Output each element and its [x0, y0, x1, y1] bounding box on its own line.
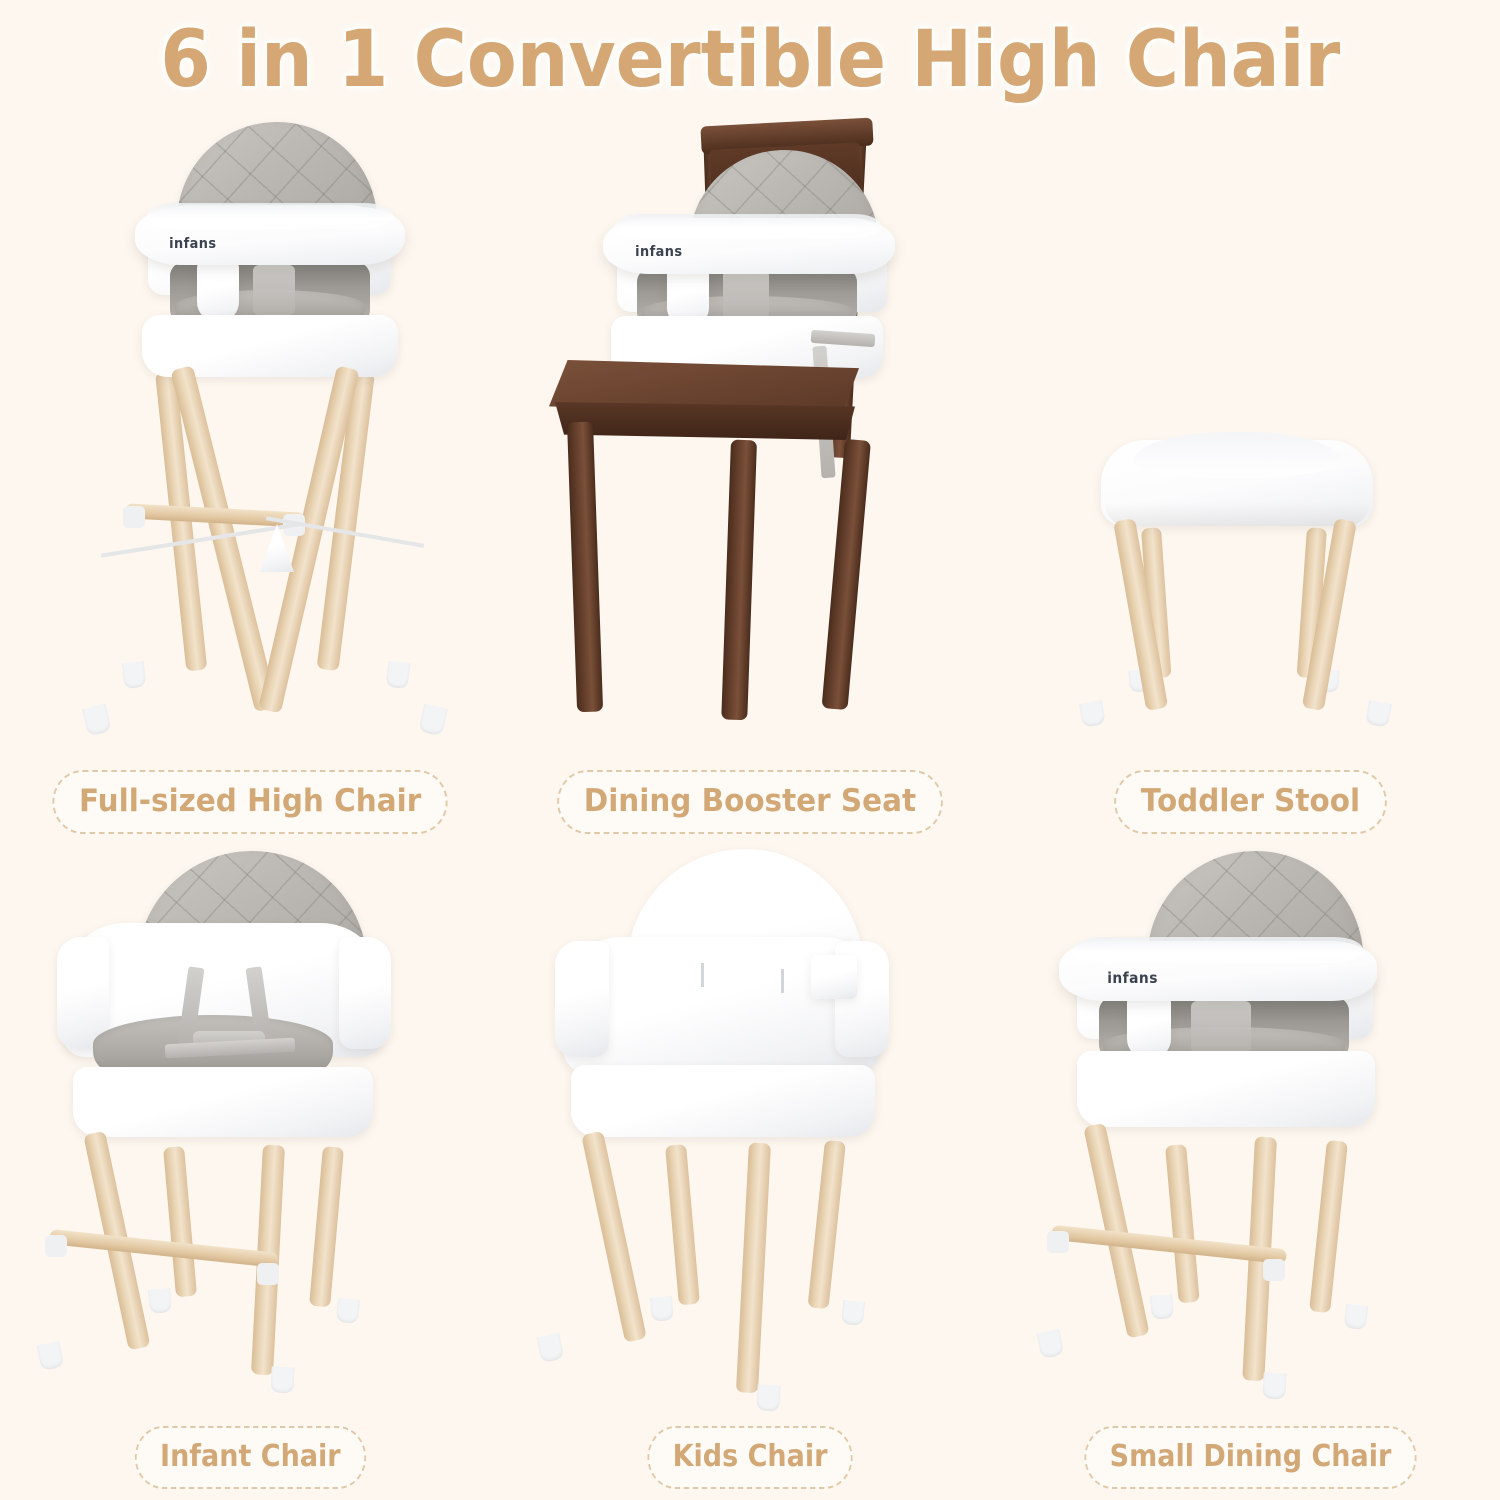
- kids-leg-tip-back-right: [841, 1300, 865, 1326]
- crotch-post: [197, 260, 239, 322]
- dining-chair-leg-front-left: [567, 422, 603, 713]
- illustration-dining-booster-seat: infans: [515, 110, 985, 759]
- kids-leg-front-left: [581, 1131, 647, 1343]
- infant-footrest-bracket-right: [257, 1263, 279, 1285]
- illustration-kids-chair: [515, 845, 985, 1414]
- small-leg-tip-back-right: [1344, 1304, 1368, 1330]
- small-leg-tip-front-left: [1037, 1329, 1065, 1359]
- label-wrap: Infant Chair: [122, 1414, 379, 1500]
- small-leg-back-right: [1309, 1140, 1348, 1313]
- page-title: 6 in 1 Convertible High Chair: [160, 15, 1340, 105]
- infant-leg-back-right: [309, 1146, 344, 1307]
- illustration-toddler-stool: [1015, 110, 1485, 759]
- feeding-tray-lip: [147, 203, 393, 229]
- small-footrest-bracket-right: [1263, 1259, 1285, 1281]
- label-wrap: Dining Booster Seat: [547, 759, 953, 845]
- label-wrap: Toddler Stool: [1107, 759, 1394, 845]
- title-bar: 6 in 1 Convertible High Chair: [0, 0, 1500, 120]
- infant-leg-tip-front-right: [270, 1366, 294, 1393]
- harness-strap: [253, 265, 295, 315]
- kids-leg-tip-front-right: [756, 1384, 780, 1411]
- stool-leg-tip-front-left: [1079, 700, 1106, 728]
- mode-card-toddler-stool[interactable]: Toddler Stool: [1000, 110, 1500, 845]
- infant-footrest-bracket-left: [45, 1235, 67, 1257]
- kids-leg-tip-back-left: [650, 1296, 674, 1322]
- chair-leg-tip-front-left: [82, 704, 112, 737]
- dining-chair-leg-back-right: [822, 439, 871, 710]
- small-crotch-post: [1127, 995, 1171, 1059]
- illustration-small-dining-chair: infans: [1015, 845, 1485, 1414]
- kids-leg-back-right: [807, 1140, 845, 1309]
- label-wrap: Small Dining Chair: [1066, 1414, 1435, 1500]
- kids-leg-back-left: [665, 1144, 700, 1305]
- mode-label-full-sized-high-chair: Full-sized High Chair: [52, 770, 447, 834]
- mode-label-toddler-stool: Toddler Stool: [1114, 770, 1386, 834]
- mode-label-kids-chair: Kids Chair: [647, 1426, 852, 1489]
- stool-leg-tip-front-right: [1365, 700, 1392, 728]
- infant-armrest-right: [339, 937, 391, 1049]
- mode-label-infant-chair: Infant Chair: [135, 1426, 366, 1489]
- chair-leg-tip-back-right: [385, 661, 410, 689]
- chair-leg-tip-front-right: [418, 704, 448, 737]
- small-leg-tip-front-right: [1262, 1372, 1286, 1399]
- mode-label-dining-booster-seat: Dining Booster Seat: [557, 770, 943, 834]
- product-mode-grid: infans Full-sized High Chair: [0, 110, 1500, 1500]
- infant-footrest-rail: [49, 1229, 279, 1268]
- booster-harness-strap: [723, 270, 769, 320]
- small-leg-back-left: [1165, 1144, 1200, 1303]
- mode-card-dining-booster-seat[interactable]: infans Dining Booster Seat: [500, 110, 1000, 845]
- label-wrap: Full-sized High Chair: [42, 759, 458, 845]
- chair-leg-tip-back-left: [122, 661, 147, 689]
- infant-leg-tip-back-right: [336, 1298, 360, 1324]
- infant-leg-back-left: [163, 1146, 197, 1297]
- small-harness-strap: [1191, 1001, 1251, 1053]
- infant-base-shell: [73, 1067, 373, 1137]
- small-brand-logo: infans: [1107, 969, 1158, 987]
- brand-logo-tray: infans: [169, 236, 216, 252]
- kids-leg-tip-front-left: [537, 1333, 565, 1363]
- illustration-infant-chair: [15, 845, 485, 1414]
- small-base-shell: [1077, 1051, 1375, 1127]
- dining-chair-seat-apron: [555, 402, 855, 440]
- small-footrest-bracket-left: [1047, 1231, 1069, 1253]
- small-feeding-tray-lip: [1073, 937, 1363, 963]
- kids-harness-slot-left: [701, 963, 704, 987]
- footrest-bracket-left: [123, 506, 145, 528]
- kids-base-shell: [571, 1065, 875, 1137]
- mode-card-small-dining-chair[interactable]: infans Small Dining Chair: [1000, 845, 1500, 1500]
- mode-card-infant-chair[interactable]: Infant Chair: [0, 845, 500, 1500]
- kids-harness-slot-right: [781, 969, 784, 993]
- stool-seat-saddle-dip: [1133, 432, 1341, 478]
- stool-seat-rim-shadow: [1105, 502, 1369, 526]
- label-wrap: Kids Chair: [636, 1414, 864, 1500]
- mode-card-kids-chair[interactable]: Kids Chair: [500, 845, 1000, 1500]
- mode-card-full-sized-high-chair[interactable]: infans Full-sized High Chair: [0, 110, 500, 845]
- kids-tray-latch-right: [811, 955, 857, 999]
- booster-feeding-tray-lip: [615, 214, 881, 238]
- small-leg-tip-back-left: [1150, 1294, 1174, 1320]
- booster-brand-logo: infans: [635, 244, 682, 260]
- kids-leg-front-right: [736, 1142, 771, 1393]
- infant-leg-tip-back-left: [148, 1288, 172, 1314]
- mode-label-small-dining-chair: Small Dining Chair: [1084, 1426, 1416, 1489]
- kids-armrest-left: [555, 941, 609, 1057]
- dining-chair-leg-front-right: [721, 440, 757, 721]
- illustration-full-sized-high-chair: infans: [15, 110, 485, 759]
- infant-leg-tip-front-left: [37, 1341, 65, 1371]
